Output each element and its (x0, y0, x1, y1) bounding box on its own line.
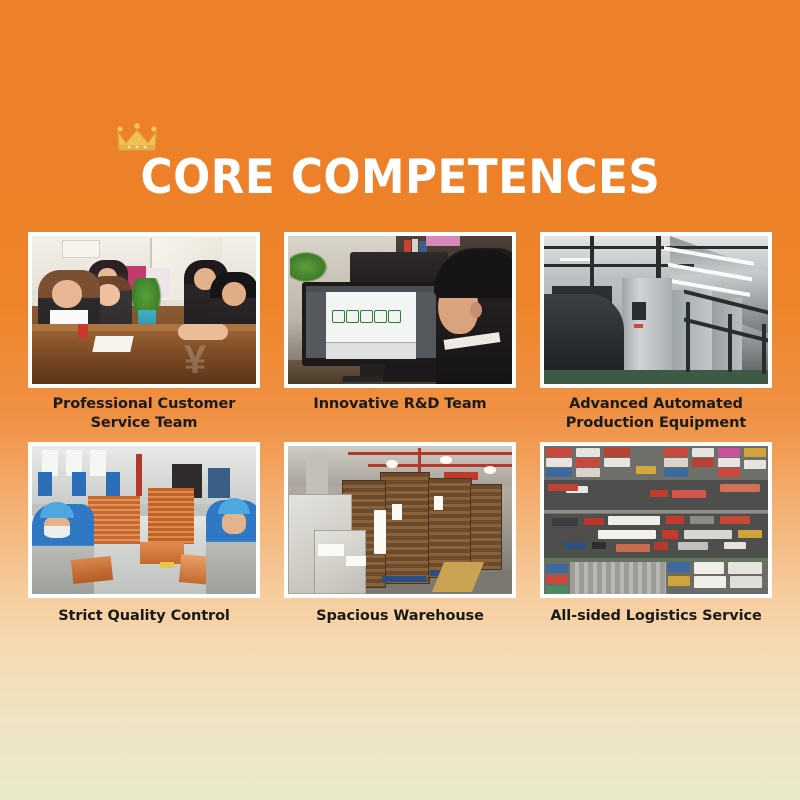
card-caption: Advanced Automated Production Equipment (540, 395, 772, 433)
photo-spacious-warehouse (288, 446, 512, 594)
competence-card-professional-customer-service-team[interactable]: ¥ Professional Customer Service Team (28, 232, 260, 433)
card-caption: Spacious Warehouse (284, 607, 516, 626)
competence-grid: ¥ Professional Customer Service Team (28, 232, 772, 626)
title-block: CORE COMPETENCES (0, 150, 800, 220)
photo-professional-customer-service-team: ¥ (32, 236, 256, 384)
competence-card-strict-quality-control[interactable]: Strict Quality Control (28, 442, 260, 626)
photo-advanced-automated-production-equipment (544, 236, 768, 384)
competence-card-innovative-rd-team[interactable]: Innovative R&D Team (284, 232, 516, 433)
photo-frame (28, 442, 260, 598)
competence-card-all-sided-logistics-service[interactable]: All-sided Logistics Service (540, 442, 772, 626)
card-caption: Strict Quality Control (28, 607, 260, 626)
competence-card-spacious-warehouse[interactable]: Spacious Warehouse (284, 442, 516, 626)
photo-innovative-rd-team (288, 236, 512, 384)
card-caption: All-sided Logistics Service (540, 607, 772, 626)
page-title: CORE COMPETENCES (140, 150, 660, 206)
photo-frame (540, 232, 772, 388)
title-inner: CORE COMPETENCES (121, 150, 680, 206)
photo-all-sided-logistics-service (544, 446, 768, 594)
core-competences-poster: CORE COMPETENCES (0, 0, 800, 800)
photo-frame (284, 232, 516, 388)
photo-frame: ¥ (28, 232, 260, 388)
crown-icon (115, 123, 159, 153)
photo-frame (540, 442, 772, 598)
card-caption: Innovative R&D Team (284, 395, 516, 414)
card-caption: Professional Customer Service Team (28, 395, 260, 433)
photo-strict-quality-control (32, 446, 256, 594)
photo-frame (284, 442, 516, 598)
competence-card-advanced-automated-production-equipment[interactable]: Advanced Automated Production Equipment (540, 232, 772, 433)
